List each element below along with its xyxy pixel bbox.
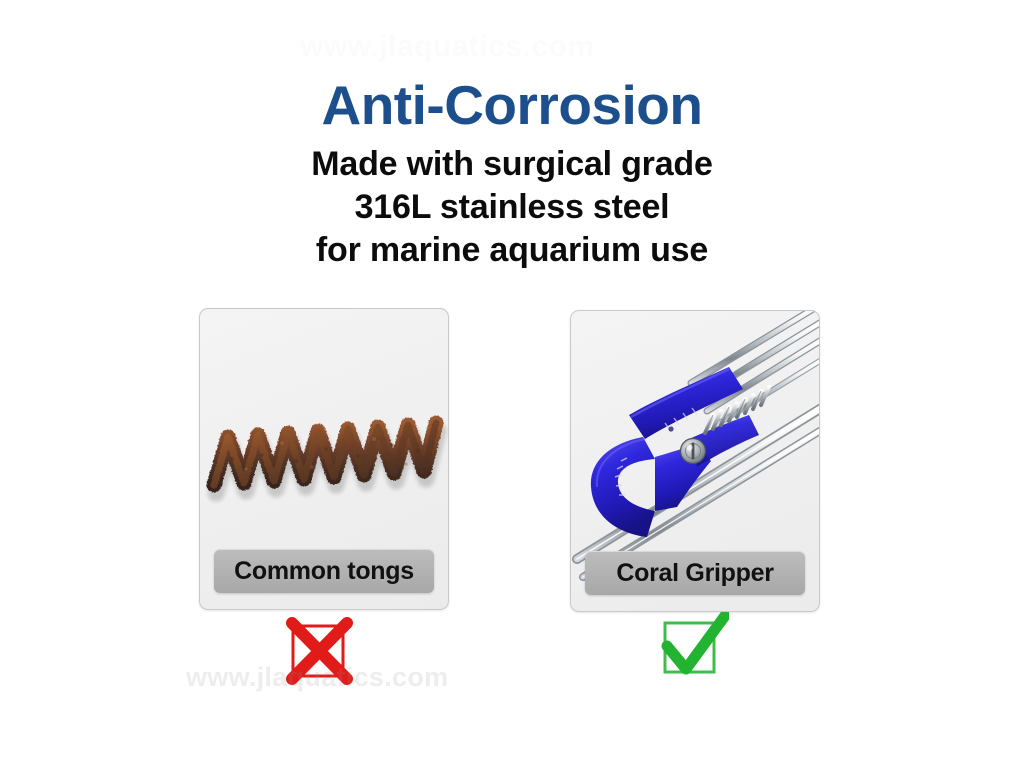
panel-common-tongs: Common tongs — [199, 308, 449, 610]
caption-chip-common-tongs: Common tongs — [214, 549, 434, 593]
comparison-panels: Common tongs — [0, 308, 1024, 618]
subtitle-line-3: for marine aquarium use — [0, 229, 1024, 272]
headline-block: Anti-Corrosion Made with surgical grade … — [0, 78, 1024, 271]
subtitle-line-2: 316L stainless steel — [0, 186, 1024, 229]
panel-coral-gripper: Coral Gripper — [570, 310, 820, 612]
page-title: Anti-Corrosion — [0, 78, 1024, 133]
watermark-url: www.jlaquatics.com — [186, 662, 448, 693]
subtitle-line-1: Made with surgical grade — [0, 143, 1024, 186]
check-icon — [655, 612, 729, 686]
watermark-ghost: www.jlaquatics.com — [300, 30, 595, 64]
caption-chip-coral-gripper: Coral Gripper — [585, 551, 805, 595]
caption-label: Common tongs — [234, 557, 414, 586]
caption-label: Coral Gripper — [616, 559, 773, 588]
